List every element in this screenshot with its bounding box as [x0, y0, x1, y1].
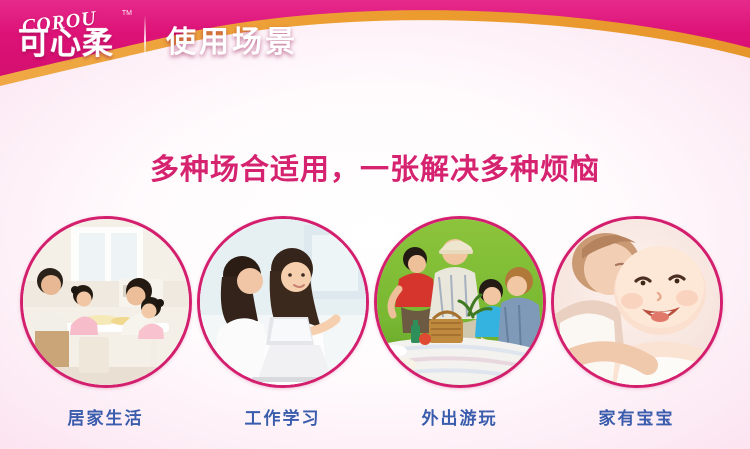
scene-item-baby[interactable]: 家有宝宝	[549, 216, 724, 429]
scene-photo-family-dining	[20, 216, 192, 388]
header-title: 使用场景	[166, 17, 298, 61]
scene-caption: 家有宝宝	[549, 404, 724, 429]
header-content: COROU TM 可心柔 使用场景	[0, 0, 750, 78]
office-laptop-illustration	[200, 219, 366, 385]
scene-caption: 工作学习	[195, 404, 370, 429]
scene-photo-family-picnic	[374, 216, 546, 388]
header: COROU TM 可心柔 使用场景	[0, 0, 750, 100]
scene-caption: 外出游玩	[372, 404, 547, 429]
family-dining-illustration	[23, 219, 189, 385]
brand-logo: COROU TM 可心柔	[18, 8, 130, 70]
header-divider	[144, 15, 146, 63]
scene-caption: 居家生活	[18, 404, 193, 429]
mother-baby-illustration	[554, 219, 720, 385]
family-picnic-illustration	[377, 219, 543, 385]
scene-item-work-study[interactable]: 工作学习	[195, 216, 370, 429]
scene-item-home-life[interactable]: 居家生活	[18, 216, 193, 429]
scene-photo-office-laptop	[197, 216, 369, 388]
trademark-icon: TM	[122, 10, 132, 17]
logo-chinese-text: 可心柔	[18, 28, 130, 59]
promo-banner: COROU TM 可心柔 使用场景 多种场合适用，一张解决多种烦恼	[0, 0, 750, 449]
scene-row: 居家生活	[0, 216, 750, 406]
scene-photo-mother-baby	[551, 216, 723, 388]
page-headline: 多种场合适用，一张解决多种烦恼	[0, 146, 750, 188]
scene-item-outdoor[interactable]: 外出游玩	[372, 216, 547, 429]
